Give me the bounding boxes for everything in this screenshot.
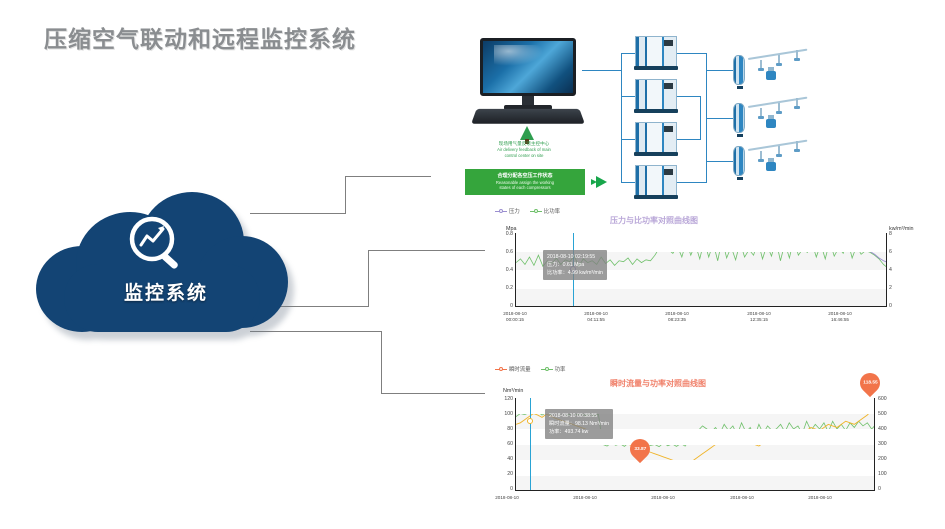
feed-tank-1 bbox=[706, 70, 734, 71]
flow-xtick-2: 2018-08-10 bbox=[637, 495, 689, 501]
compressor-4[interactable] bbox=[635, 165, 677, 199]
flow-xtick-0: 2018-08-10 bbox=[481, 495, 533, 501]
legend-label-flow: 瞬时流量 bbox=[509, 365, 531, 373]
flow-y2tick-1: 500 bbox=[878, 411, 887, 417]
outlet-comp3 bbox=[677, 139, 701, 140]
pressure-ytick-2: 0.4 bbox=[485, 267, 513, 273]
flow-ytick-5: 20 bbox=[485, 471, 513, 477]
air-tank-3[interactable] bbox=[733, 146, 745, 176]
outlet-comp1 bbox=[677, 53, 707, 54]
flow-ytick-6: 0 bbox=[485, 486, 513, 492]
caption-en-line1: Air delivery feedback of main bbox=[497, 147, 551, 152]
pressure-ytick-4: 0 bbox=[485, 303, 513, 309]
strategy-en-line1: Reasonable assign the working bbox=[496, 180, 554, 185]
tree-icon bbox=[520, 126, 534, 140]
flow-tooltip-line1: 瞬时流量：98.13 Nm³/min bbox=[549, 420, 609, 428]
flow-tooltip-line2: 功率：493.74 kw bbox=[549, 428, 609, 436]
outlet-comp4 bbox=[677, 182, 707, 183]
pressure-xtick-1: 2018-08-1004:11:55 bbox=[570, 311, 622, 323]
legend-item-power[interactable]: 功率 bbox=[541, 365, 566, 373]
pressure-ytick-1: 0.6 bbox=[485, 249, 513, 255]
flow-ytick-3: 60 bbox=[485, 441, 513, 447]
flow-tooltip-timestamp: 2018-08-10 00:38:55 bbox=[549, 412, 609, 420]
legend-label-pressure: 压力 bbox=[509, 207, 520, 215]
pressure-chart-legend: 压力 比功率 bbox=[495, 207, 560, 215]
magnifier-chart-icon bbox=[122, 214, 194, 276]
compressor-3[interactable] bbox=[635, 122, 677, 156]
flow-y-axis-unit: Nm³/min bbox=[503, 388, 523, 394]
pressure-ytick-0: 0.8 bbox=[485, 231, 513, 237]
legend-item-flow[interactable]: 瞬时流量 bbox=[495, 365, 531, 373]
flow-chart-panel[interactable]: 瞬时流量 功率 瞬时流量与功率对照曲线图 Nm³/min 120 100 80 … bbox=[485, 363, 945, 523]
pressure-ytick-3: 0.2 bbox=[485, 285, 513, 291]
outlet-comp2 bbox=[677, 96, 701, 97]
flow-cursor-dot bbox=[527, 418, 533, 424]
flow-ytick-2: 80 bbox=[485, 426, 513, 432]
bus-vertical-left bbox=[621, 53, 622, 183]
legend-marker-specific-power bbox=[530, 211, 542, 212]
flow-xtick-1: 2018-08-10 bbox=[559, 495, 611, 501]
feed-tank-3 bbox=[706, 161, 734, 162]
monitor-screen bbox=[480, 38, 576, 96]
legend-item-pressure[interactable]: 压力 bbox=[495, 207, 520, 215]
outlet-riser-inner bbox=[700, 96, 701, 139]
flow-chart-legend: 瞬时流量 功率 bbox=[495, 365, 565, 373]
pressure-tooltip-timestamp: 2018-08-10 02:19:55 bbox=[547, 253, 603, 261]
flow-ytick-1: 100 bbox=[485, 411, 513, 417]
page-title: 压缩空气联动和远程监控系统 bbox=[44, 20, 356, 54]
legend-label-specific-power: 比功率 bbox=[544, 207, 560, 215]
flow-marker-pin-high[interactable]: 118.55 bbox=[856, 369, 884, 397]
air-tank-1[interactable] bbox=[733, 55, 745, 85]
pressure-chart-title: 压力与比功率对照曲线图 bbox=[610, 215, 698, 226]
flow-y2tick-0: 600 bbox=[878, 396, 887, 402]
flow-y2tick-4: 200 bbox=[878, 456, 887, 462]
strategy-callout-box: 合理分配各空压工作状态 Reasonable assign the workin… bbox=[465, 169, 585, 195]
keyboard bbox=[471, 109, 585, 124]
pressure-chart-tooltip: 2018-08-10 02:19:55 压力：0.61 Mpa 比功率：4.99… bbox=[543, 250, 607, 280]
flow-ytick-0: 120 bbox=[485, 396, 513, 402]
pressure-xtick-3: 2018-08-1012:35:15 bbox=[733, 311, 785, 323]
caption-en-line2: control center on site bbox=[505, 153, 544, 158]
pressure-y2tick-0: 8 bbox=[889, 231, 892, 237]
control-center-monitor bbox=[474, 38, 582, 124]
flow-ytick-4: 40 bbox=[485, 456, 513, 462]
pressure-y2tick-2: 4 bbox=[889, 267, 892, 273]
flow-chart-tooltip: 2018-08-10 00:38:55 瞬时流量：98.13 Nm³/min 功… bbox=[545, 409, 613, 439]
legend-item-specific-power[interactable]: 比功率 bbox=[530, 207, 560, 215]
pressure-y2tick-4: 0 bbox=[889, 303, 892, 309]
pressure-xtick-2: 2018-08-1008:23:35 bbox=[651, 311, 703, 323]
flow-y2tick-6: 0 bbox=[878, 486, 881, 492]
pressure-xtick-0: 2018-08-1000:00:15 bbox=[489, 311, 541, 323]
strategy-en: Reasonable assign the working states of … bbox=[496, 180, 554, 191]
monitoring-cloud[interactable]: 监控系统 bbox=[36, 192, 296, 340]
legend-marker-flow bbox=[495, 369, 507, 370]
pressure-y2tick-1: 6 bbox=[889, 249, 892, 255]
compressor-1[interactable] bbox=[635, 36, 677, 70]
flow-xtick-4: 2018-08-10 bbox=[794, 495, 846, 501]
feed-tank-2 bbox=[706, 118, 734, 119]
pressure-y2tick-3: 2 bbox=[889, 285, 892, 291]
link-monitor-bus bbox=[582, 70, 622, 71]
pressure-xtick-4: 2018-08-1016:46:55 bbox=[814, 311, 866, 323]
diagram-caption-en: Air delivery feedback of main control ce… bbox=[460, 147, 588, 159]
compressor-2[interactable] bbox=[635, 79, 677, 113]
flow-chart-cursor[interactable] bbox=[530, 398, 531, 490]
air-tank-2[interactable] bbox=[733, 103, 745, 133]
legend-marker-power bbox=[541, 369, 553, 370]
flow-y2tick-2: 400 bbox=[878, 426, 887, 432]
slide-root: 压缩空气联动和远程监控系统 bbox=[0, 0, 945, 529]
legend-label-power: 功率 bbox=[555, 365, 566, 373]
strategy-en-line2: states of each compressors bbox=[499, 185, 550, 190]
pressure-tooltip-line2: 比功率：4.99 kw/m³/min bbox=[547, 269, 603, 277]
legend-marker-pressure bbox=[495, 211, 507, 212]
flow-chart-title: 瞬时流量与功率对照曲线图 bbox=[610, 378, 706, 389]
pressure-y2-axis-unit: kw/m³/min bbox=[889, 226, 914, 232]
system-diagram-panel[interactable]: 现场用气量反馈主控中心 Air delivery feedback of mai… bbox=[430, 22, 945, 207]
flow-y2tick-5: 100 bbox=[878, 471, 887, 477]
flow-y2tick-3: 300 bbox=[878, 441, 887, 447]
cloud-label: 监控系统 bbox=[36, 278, 296, 305]
arrow-right-icon bbox=[596, 176, 607, 188]
pressure-tooltip-line1: 压力：0.61 Mpa bbox=[547, 261, 603, 269]
pressure-chart-panel[interactable]: 压力 比功率 压力与比功率对照曲线图 Mpa kw/m³/min 0.8 0.6… bbox=[485, 205, 945, 335]
flow-xtick-3: 2018-08-10 bbox=[716, 495, 768, 501]
